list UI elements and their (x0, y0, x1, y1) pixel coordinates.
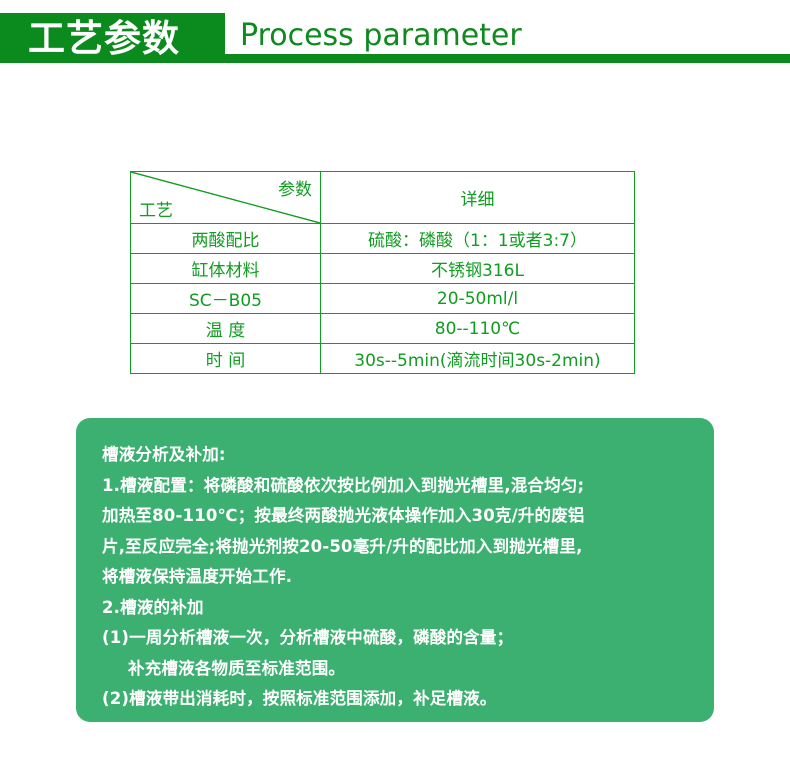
header-label-parameter: 参数 (278, 175, 312, 200)
note-line-0: 槽液分析及补加: (102, 440, 688, 471)
table-row: 时 间 30s--5min(滴流时间30s-2min) (131, 344, 635, 374)
header-label-process: 工艺 (139, 196, 173, 221)
note-line-7: 补充槽液各物质至标准范围。 (102, 654, 688, 685)
page-title-english: Process parameter (240, 17, 522, 55)
table-row: 两酸配比 硫酸：磷酸（1：1或者3:7） (131, 224, 635, 254)
row-value-2: 20-50ml/l (321, 284, 635, 314)
table-row: SC－B05 20-50ml/l (131, 284, 635, 314)
row-name-0: 两酸配比 (131, 224, 321, 254)
note-line-6: (1)一周分析槽液一次，分析槽液中硫酸，磷酸的含量； (102, 623, 688, 654)
table-corner-header-cell: 参数 工艺 (131, 172, 321, 224)
table-row: 缸体材料 不锈钢316L (131, 254, 635, 284)
note-line-1: 1.槽液配置：将磷酸和硫酸依次按比例加入到抛光槽里,混合均匀; (102, 471, 688, 502)
process-parameter-table: 参数 工艺 详细 两酸配比 硫酸：磷酸（1：1或者3:7） 缸体材料 不锈钢31… (130, 171, 635, 374)
note-line-5: 2.槽液的补加 (102, 593, 688, 624)
row-name-1: 缸体材料 (131, 254, 321, 284)
row-value-0: 硫酸：磷酸（1：1或者3:7） (321, 224, 635, 254)
note-line-3: 片,至反应完全;将抛光剂按20-50毫升/升的配比加入到抛光槽里, (102, 532, 688, 563)
note-line-4: 将槽液保持温度开始工作. (102, 562, 688, 593)
page-header-banner: 工艺参数 Process parameter (0, 13, 790, 63)
table-header-row: 参数 工艺 详细 (131, 172, 635, 224)
note-line-2: 加热至80-110℃；按最终两酸抛光液体操作加入30克/升的废铝 (102, 501, 688, 532)
row-name-4: 时 间 (131, 344, 321, 374)
row-name-3: 温 度 (131, 314, 321, 344)
row-value-3: 80--110℃ (321, 314, 635, 344)
row-value-4: 30s--5min(滴流时间30s-2min) (321, 344, 635, 374)
table-row: 温 度 80--110℃ (131, 314, 635, 344)
page-title-chinese: 工艺参数 (28, 16, 218, 61)
header-label-detail: 详细 (321, 172, 635, 224)
row-name-2: SC－B05 (131, 284, 321, 314)
bath-analysis-note-box: 槽液分析及补加: 1.槽液配置：将磷酸和硫酸依次按比例加入到抛光槽里,混合均匀;… (76, 418, 714, 722)
row-value-1: 不锈钢316L (321, 254, 635, 284)
note-line-8: (2)槽液带出消耗时，按照标准范围添加，补足槽液。 (102, 684, 688, 715)
